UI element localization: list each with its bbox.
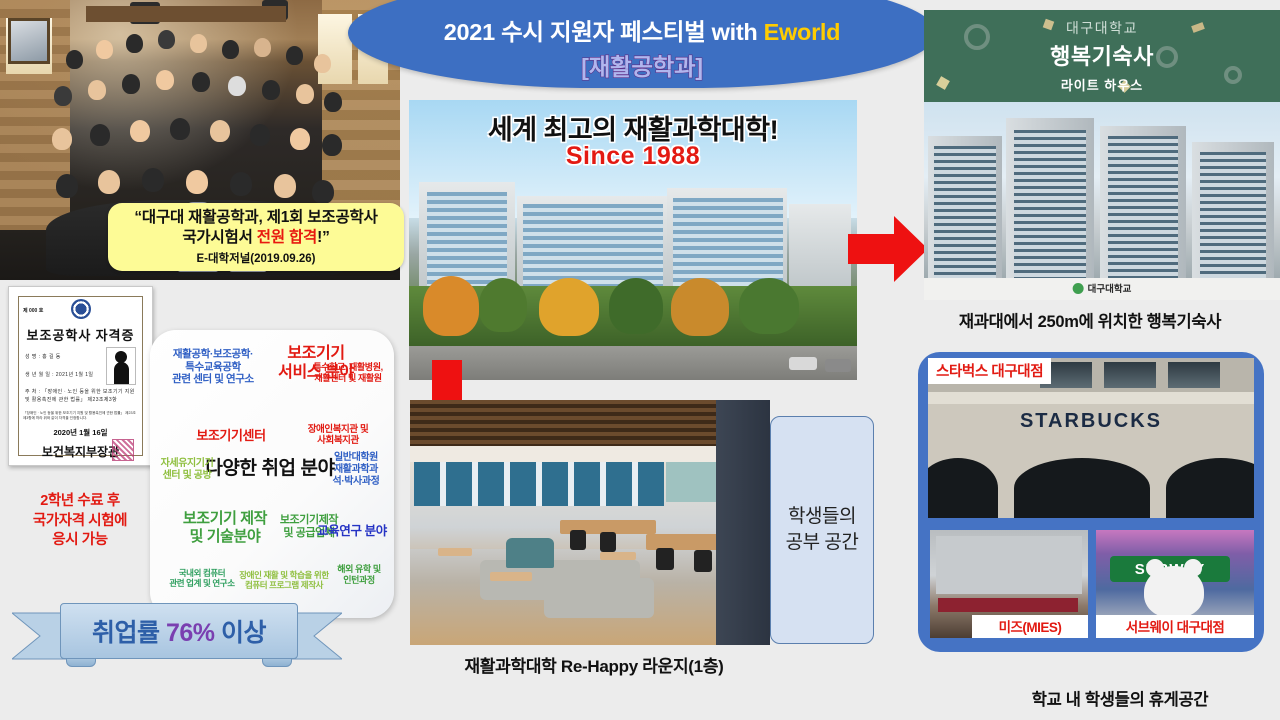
photo-wall-picture	[8, 18, 50, 64]
certificate-note-line-3: 응시 가능	[0, 531, 160, 551]
quote-line-2-prefix: 국가시험서	[182, 229, 256, 246]
career-word-cloud: 재활공학·보조공학· 특수교육공학 관련 센터 및 연구소보조기기 서비스 분야…	[150, 330, 394, 618]
dormitory-caption: 재과대에서 250m에 위치한 행복기숙사	[900, 308, 1280, 332]
person-silhouette-icon	[114, 362, 129, 384]
dormitory-subtitle: 라이트 하우스	[1061, 75, 1143, 94]
word-cloud-term-3: 특수학교, 재활병원, 재활센터 및 재활원	[302, 362, 394, 384]
dorm-logo-mark	[1073, 283, 1084, 294]
slide-title-banner: 2021 수시 지원자 페스티벌 with Eworld [재활공학과]	[348, 0, 936, 88]
starbucks-arch-3	[1166, 458, 1254, 518]
word-cloud-term-4: 보조기기센터	[166, 428, 296, 444]
dormitory-card: 대구대학교 행복기숙사 라이트 하우스 대구대학교	[924, 10, 1280, 300]
word-cloud-term-14: 해외 유학 및 인턴과정	[326, 564, 392, 586]
title-line-2: [재활공학과]	[581, 48, 703, 82]
rest-area-caption: 학교 내 학생들의 휴게공간	[960, 686, 1280, 710]
dormitory-logo: 대구대학교	[1073, 281, 1132, 295]
quote-highlight: 전원 합격	[257, 229, 317, 246]
title-brand: Eworld	[764, 19, 841, 45]
title-line-1-text: 2021 수시 지원자 페스티벌 with	[444, 19, 764, 45]
lounge-chair-4	[694, 550, 712, 572]
certificate-number: 제 000 호	[23, 307, 43, 314]
quote-line-2: 국가시험서 전원 합격!”	[182, 228, 329, 248]
lounge-caption: 재활과학대학 Re-Happy 라운지(1층)	[404, 652, 784, 677]
lounge-photo	[410, 400, 770, 645]
lounge-sidetable-2	[490, 572, 532, 581]
lounge-cushion	[506, 538, 554, 568]
photo-shelf	[86, 6, 286, 22]
starbucks-upper-window-3	[1168, 362, 1220, 388]
quote-source: E-대학저널(2019.09.26)	[196, 250, 315, 266]
lounge-sidetable-3	[600, 552, 636, 560]
certificate-image: 제 000 호 보조공학사 자격증 성 명 : 홍 길 동 생 년 월 일 : …	[8, 286, 153, 466]
lounge-pillar	[716, 400, 770, 645]
dormitory-banner: 대구대학교 행복기숙사 라이트 하우스	[924, 10, 1280, 102]
starbucks-arch-2	[1014, 458, 1150, 518]
certificate-note-row: 주 처 : 「장애인ㆍ노인 등을 위한 보조기기 지원 및 활용촉진에 관한 법…	[25, 389, 135, 404]
mies-label: 미즈(MIES)	[972, 615, 1088, 638]
certificate-title: 보조공학사 자격증	[9, 325, 152, 344]
word-cloud-term-7: 자세유지기기 센터 및 공방	[154, 458, 220, 482]
lounge-windows	[414, 462, 664, 506]
campus-tree-1	[423, 276, 479, 336]
certificate-date: 2020년 1월 16일	[9, 427, 152, 438]
mies-building	[936, 536, 1082, 594]
starbucks-facade-band	[928, 392, 1254, 404]
starbucks-upper-window-2	[1104, 362, 1156, 388]
ribbon-prefix: 취업률	[92, 619, 166, 647]
subway-photo: SUBWAY 서브웨이 대구대점	[1096, 530, 1254, 638]
campus-car-2	[825, 359, 851, 372]
study-space-text: 학생들의공부 공간	[786, 504, 859, 555]
starbucks-arch-1	[928, 458, 998, 518]
word-cloud-term-1: 재활공학·보조공학· 특수교육공학 관련 센터 및 연구소	[164, 348, 262, 386]
title-line-1: 2021 수시 지원자 페스티벌 with Eworld	[444, 13, 840, 47]
certificate-stamp-icon	[112, 439, 134, 461]
word-cloud-term-9: 보조기기 제작 및 기술분야	[166, 510, 284, 546]
campus-tree-6	[739, 278, 799, 334]
lounge-chair-3	[656, 548, 674, 570]
campus-tree-4	[609, 278, 663, 334]
dorm-windows-a	[934, 146, 996, 278]
campus-tree-2	[479, 278, 527, 332]
word-cloud-term-5: 장애인복지관 및 사회복지관	[290, 424, 386, 447]
dormitory-photo: 대구대학교	[924, 102, 1280, 300]
campus-tree-3	[539, 278, 599, 336]
lounge-chair-2	[600, 532, 616, 552]
certificate-photo	[106, 347, 136, 385]
study-space-line-2: 공부 공간	[786, 532, 859, 553]
study-space-line-1: 학생들의	[788, 506, 856, 527]
ribbon-highlight: 76%	[166, 619, 215, 647]
tiger-mascot-icon	[1144, 566, 1204, 618]
employment-rate-ribbon: 취업률 76% 이상	[12, 603, 342, 669]
word-cloud-term-11: 교육연구 분야	[310, 524, 394, 539]
certificate-paragraph: 「장애인ㆍ노인 등을 위한 보조기기 지원 및 활용촉진에 관한 법률」 제23…	[23, 411, 138, 422]
certificate-note-line-2: 국가자격 시험에	[0, 512, 160, 532]
campus-since: Since 1988	[409, 142, 857, 171]
certificate-name-row: 성 명 : 홍 길 동	[25, 353, 61, 360]
campus-car-1	[789, 357, 817, 370]
dorm-windows-c	[1108, 136, 1178, 278]
ribbon-suffix: 이상	[215, 619, 266, 647]
starbucks-label: 스타벅스 대구대점	[928, 358, 1051, 384]
slide-canvas: “대구대 재활공학과, 제1회 보조공학사 국가시험서 전원 합격!” E-대학…	[0, 0, 1280, 720]
government-emblem-icon	[71, 299, 91, 319]
dormitory-name: 행복기숙사	[1050, 39, 1154, 71]
mies-awning	[938, 598, 1078, 612]
dorm-logo-text: 대구대학교	[1088, 281, 1132, 295]
study-space-callout: 학생들의공부 공간	[770, 416, 874, 644]
lounge-bench-2	[544, 578, 654, 618]
campus-photo: 세계 최고의 재활과학대학! Since 1988	[409, 100, 857, 380]
arrow-right-icon	[848, 214, 928, 284]
lounge-sidetable-1	[438, 548, 472, 556]
campus-tree-5	[671, 278, 729, 336]
dormitory-university-name: 대구대학교	[1066, 18, 1138, 38]
lounge-chair-1	[570, 530, 586, 550]
ribbon-text: 취업률 76% 이상	[92, 613, 266, 649]
quote-line-1: “대구대 재활공학과, 제1회 보조공학사	[134, 208, 377, 228]
certificate-note: 2학년 수료 후국가자격 시험에응시 가능	[0, 492, 160, 551]
quote-line-2-suffix: !”	[317, 229, 330, 246]
ribbon-label: 취업률 76% 이상	[60, 603, 298, 659]
news-quote-callout: “대구대 재활공학과, 제1회 보조공학사 국가시험서 전원 합격!” E-대학…	[108, 203, 404, 271]
mies-photo: 미즈(MIES)	[930, 530, 1088, 638]
dorm-windows-b	[1014, 130, 1086, 278]
dorm-windows-d	[1200, 152, 1266, 278]
word-cloud-term-13: 장애인 재활 및 학습을 위한 컴퓨터 프로그램 제작사	[228, 570, 340, 590]
subway-label: 서브웨이 대구대점	[1096, 615, 1254, 638]
certificate-note-line-1: 2학년 수료 후	[0, 492, 160, 512]
starbucks-sign: STARBUCKS	[928, 410, 1254, 433]
certificate-birth-row: 생 년 월 일 : 2021년 1월 1일	[25, 371, 93, 378]
word-cloud-term-8: 일반대학원 재활과학과 석·박사과정	[318, 452, 394, 488]
